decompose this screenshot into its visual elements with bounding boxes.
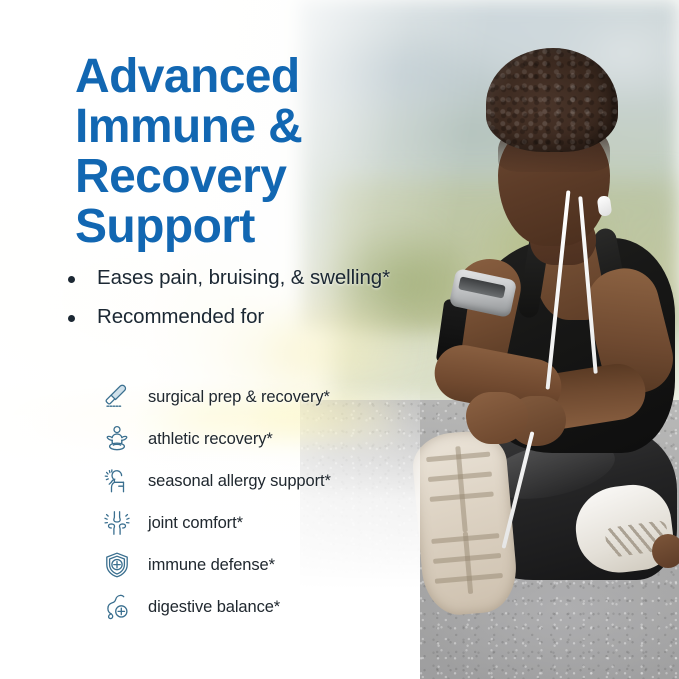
meditation-icon — [96, 419, 138, 459]
benefit-label: seasonal allergy support* — [148, 472, 331, 491]
benefit-bullets: Eases pain, bruising, & swelling* Recomm… — [68, 265, 408, 343]
benefit-label: athletic recovery* — [148, 430, 273, 449]
headline-line-1: Advanced — [75, 52, 405, 102]
list-item: joint comfort* — [96, 502, 416, 544]
list-item: Eases pain, bruising, & swelling* — [68, 265, 408, 290]
copy-column: Advanced Immune & Recovery Support Eases… — [0, 0, 420, 679]
benefit-label: joint comfort* — [148, 514, 243, 533]
stomach-plus-icon — [96, 587, 138, 627]
benefit-label: digestive balance* — [148, 598, 280, 617]
bullet-text: Recommended for — [97, 304, 264, 329]
marketing-image: Advanced Immune & Recovery Support Eases… — [0, 0, 679, 679]
bullet-text: Eases pain, bruising, & swelling* — [97, 265, 390, 290]
shield-cross-icon — [96, 545, 138, 585]
headline-line-3: Recovery — [75, 152, 405, 202]
list-item: seasonal allergy support* — [96, 460, 416, 502]
headline-line-2: Immune & — [75, 102, 405, 152]
sneeze-icon — [96, 461, 138, 501]
list-item: Recommended for — [68, 304, 408, 329]
benefit-label: surgical prep & recovery* — [148, 388, 330, 407]
page-title: Advanced Immune & Recovery Support — [75, 52, 405, 252]
benefit-label: immune defense* — [148, 556, 275, 575]
bullet-dot-icon — [68, 276, 75, 283]
benefit-icon-list: surgical prep & recovery* — [96, 376, 416, 628]
list-item: athletic recovery* — [96, 418, 416, 460]
bullet-dot-icon — [68, 315, 75, 322]
headline-line-4: Support — [75, 202, 405, 252]
joint-icon — [96, 503, 138, 543]
list-item: surgical prep & recovery* — [96, 376, 416, 418]
list-item: digestive balance* — [96, 586, 416, 628]
scalpel-icon — [96, 377, 138, 417]
list-item: immune defense* — [96, 544, 416, 586]
